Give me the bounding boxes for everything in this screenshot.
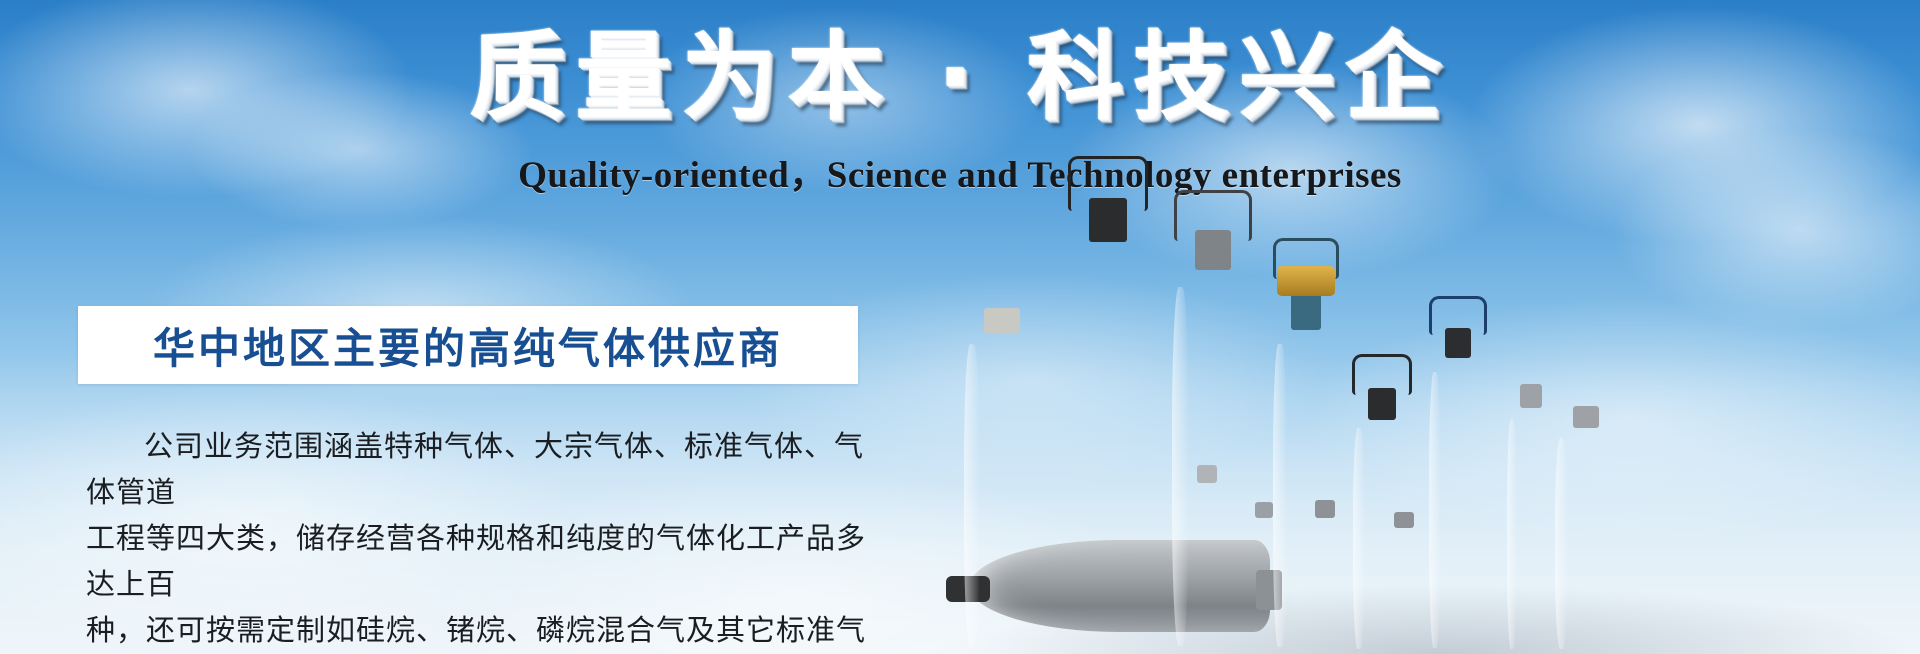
- red-tall-cylinder: [1540, 424, 1632, 654]
- black-tall-cylinder: [1048, 234, 1168, 654]
- short-aluminium-cylinder: [1292, 514, 1358, 654]
- slogan-text: 华中地区主要的高纯气体供应商: [153, 315, 783, 376]
- paragraph-line-2: 工程等四大类，储存经营各种规格和纯度的气体化工产品多达上百: [86, 516, 886, 608]
- grey-cylinder-guard: [1174, 190, 1252, 241]
- paragraph-line-1: 公司业务范围涵盖特种气体、大宗气体、标准气体、气体管道: [86, 424, 886, 516]
- white-cylinder: [946, 324, 1058, 654]
- slogan-box: 华中地区主要的高纯气体供应商: [78, 306, 858, 384]
- paragraph-line-3: 种，还可按需定制如硅烷、锗烷、磷烷混合气及其它标准气体。: [86, 608, 886, 654]
- small-aluminium-cylinder: [1368, 524, 1440, 654]
- description-paragraph: 公司业务范围涵盖特种气体、大宗气体、标准气体、气体管道 工程等四大类，储存经营各…: [86, 424, 886, 654]
- red-small-cylinder: [1176, 479, 1238, 654]
- purple-small-cylinder: [1232, 514, 1296, 654]
- gas-cylinder-lineup: [940, 0, 1920, 654]
- hero-banner: 质量为本 · 科技兴企 Quality-oriented，Science and…: [0, 0, 1920, 654]
- black-cylinder-guard: [1068, 156, 1148, 211]
